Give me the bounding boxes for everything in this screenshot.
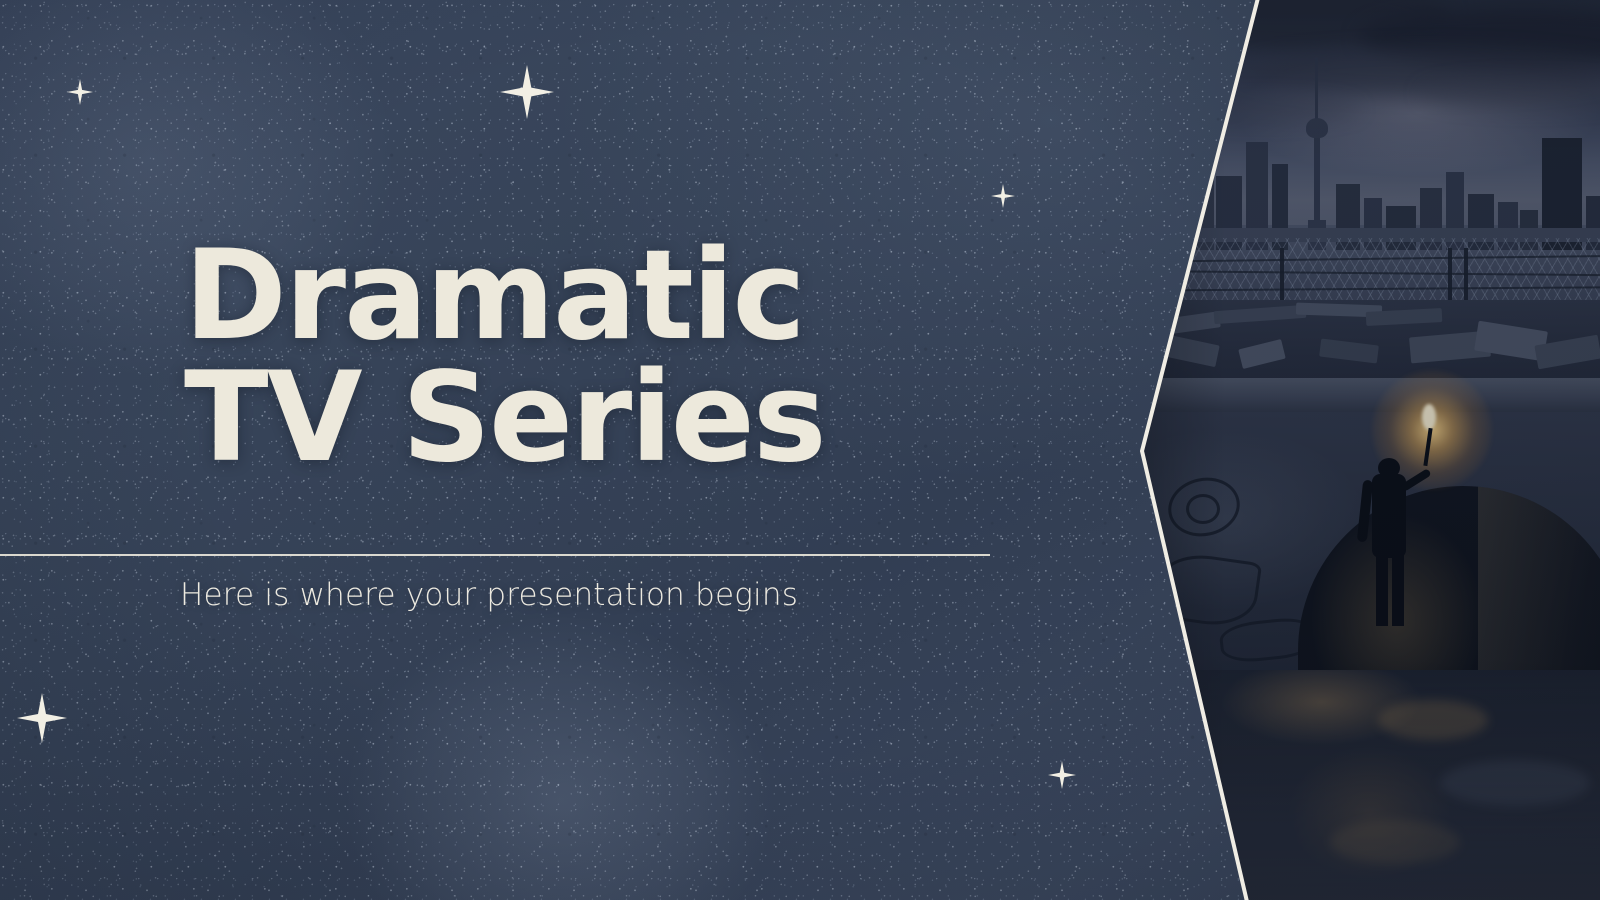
sparkle-icon — [67, 79, 93, 105]
sparkle-icon — [991, 184, 1015, 208]
presentation-slide: Dramatic TV Series Here is where your pr… — [0, 0, 1600, 900]
sparkle-icon — [17, 693, 67, 743]
page-title: Dramatic TV Series — [184, 236, 1084, 479]
subtitle: Here is where your presentation begins — [180, 577, 798, 613]
title-divider-rule — [0, 554, 990, 556]
sparkle-icon — [1048, 761, 1076, 789]
sparkle-icon — [500, 65, 554, 119]
